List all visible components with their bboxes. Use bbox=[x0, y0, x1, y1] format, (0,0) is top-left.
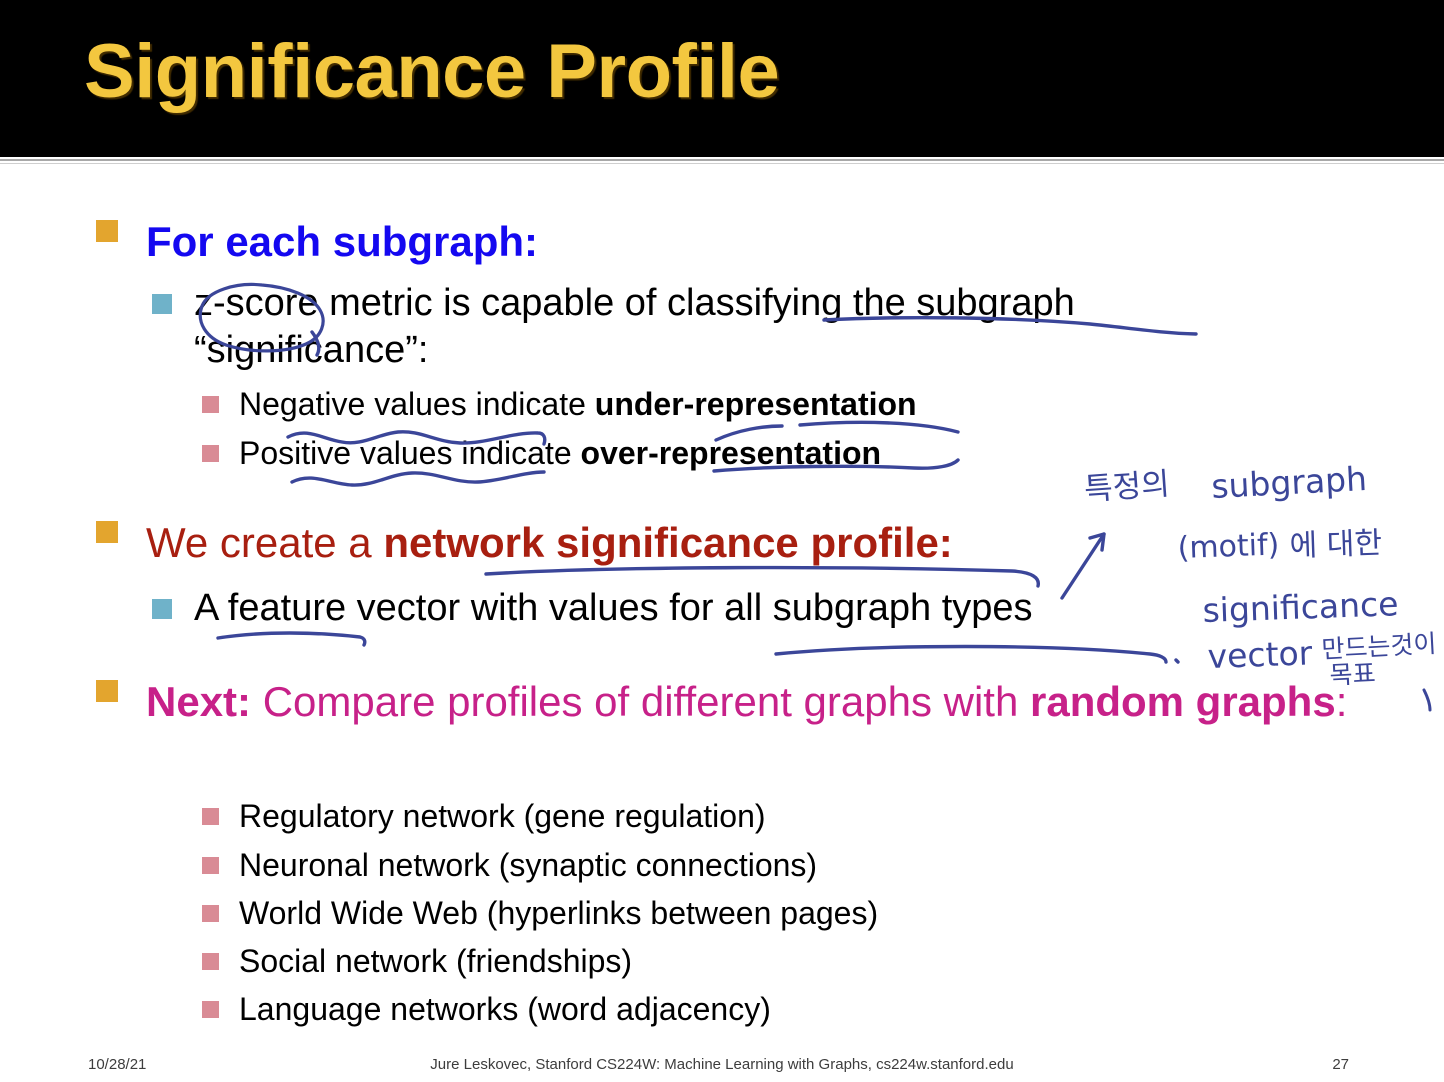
bullet-marker-pink bbox=[202, 953, 219, 970]
bullet-lead-text: Positive values indicate bbox=[239, 435, 581, 471]
bullet-label: For each subgraph: bbox=[146, 220, 538, 265]
bullet-marker-pink bbox=[202, 905, 219, 922]
bullet-zscore-metric: z-score metric is capable of classifying… bbox=[152, 280, 1232, 373]
title-divider bbox=[0, 157, 1444, 165]
bullet-marker-pink bbox=[202, 808, 219, 825]
bullet-neuronal-network: Neuronal network (synaptic connections) bbox=[202, 846, 1202, 884]
bullet-tail-text: : bbox=[1336, 678, 1348, 725]
bullet-language-networks: Language networks (word adjacency) bbox=[202, 990, 1202, 1028]
bullet-label: A feature vector with values for all sub… bbox=[194, 585, 1033, 632]
bullet-strong-tail: random graphs bbox=[1030, 678, 1336, 725]
bullet-we-create-profile: We create a network significance profile… bbox=[96, 521, 1196, 566]
bullet-marker-gold bbox=[96, 220, 118, 242]
bullet-marker-blue bbox=[152, 294, 172, 314]
bullet-strong-text: network significance profile: bbox=[383, 519, 952, 566]
bullet-marker-gold bbox=[96, 521, 118, 543]
bullet-label: Regulatory network (gene regulation) bbox=[239, 797, 766, 835]
bullet-feature-vector: A feature vector with values for all sub… bbox=[152, 585, 1252, 632]
bullet-lead-text: We create a bbox=[146, 519, 383, 566]
title-band: Significance Profile bbox=[0, 0, 1444, 157]
bullet-marker-pink bbox=[202, 445, 219, 462]
bullet-strong-text: under-representation bbox=[595, 386, 917, 422]
bullet-strong-lead: Next: bbox=[146, 678, 251, 725]
slide-footer: 10/28/21 Jure Leskovec, Stanford CS224W:… bbox=[0, 1050, 1444, 1082]
bullet-marker-pink bbox=[202, 857, 219, 874]
bullet-for-each-subgraph: For each subgraph: bbox=[96, 220, 1196, 265]
slide-title: Significance Profile bbox=[84, 34, 779, 110]
bullet-label: World Wide Web (hyperlinks between pages… bbox=[239, 894, 878, 932]
bullet-middle-text: Compare profiles of different graphs wit… bbox=[251, 678, 1030, 725]
bullet-regulatory-network: Regulatory network (gene regulation) bbox=[202, 797, 1202, 835]
bullet-marker-gold bbox=[96, 680, 118, 702]
bullet-social-network: Social network (friendships) bbox=[202, 942, 1202, 980]
bullet-lead-text: Negative values indicate bbox=[239, 386, 595, 422]
bullet-next-compare: Next: Compare profiles of different grap… bbox=[96, 680, 1396, 725]
bullet-label: z-score metric is capable of classifying… bbox=[194, 280, 1232, 373]
bullet-label: Language networks (word adjacency) bbox=[239, 990, 771, 1028]
bullet-marker-pink bbox=[202, 1001, 219, 1018]
bullet-world-wide-web: World Wide Web (hyperlinks between pages… bbox=[202, 894, 1202, 932]
bullet-label: Neuronal network (synaptic connections) bbox=[239, 846, 817, 884]
slide-content: For each subgraph: z-score metric is cap… bbox=[0, 165, 1444, 1040]
bullet-label: Social network (friendships) bbox=[239, 942, 632, 980]
footer-attribution: Jure Leskovec, Stanford CS224W: Machine … bbox=[0, 1056, 1444, 1073]
bullet-positive-values: Positive values indicate over-representa… bbox=[202, 434, 1202, 472]
footer-page-number: 27 bbox=[1332, 1056, 1349, 1073]
bullet-marker-pink bbox=[202, 396, 219, 413]
bullet-negative-values: Negative values indicate under-represent… bbox=[202, 385, 1202, 423]
bullet-marker-blue bbox=[152, 599, 172, 619]
bullet-strong-text: over-representation bbox=[581, 435, 882, 471]
